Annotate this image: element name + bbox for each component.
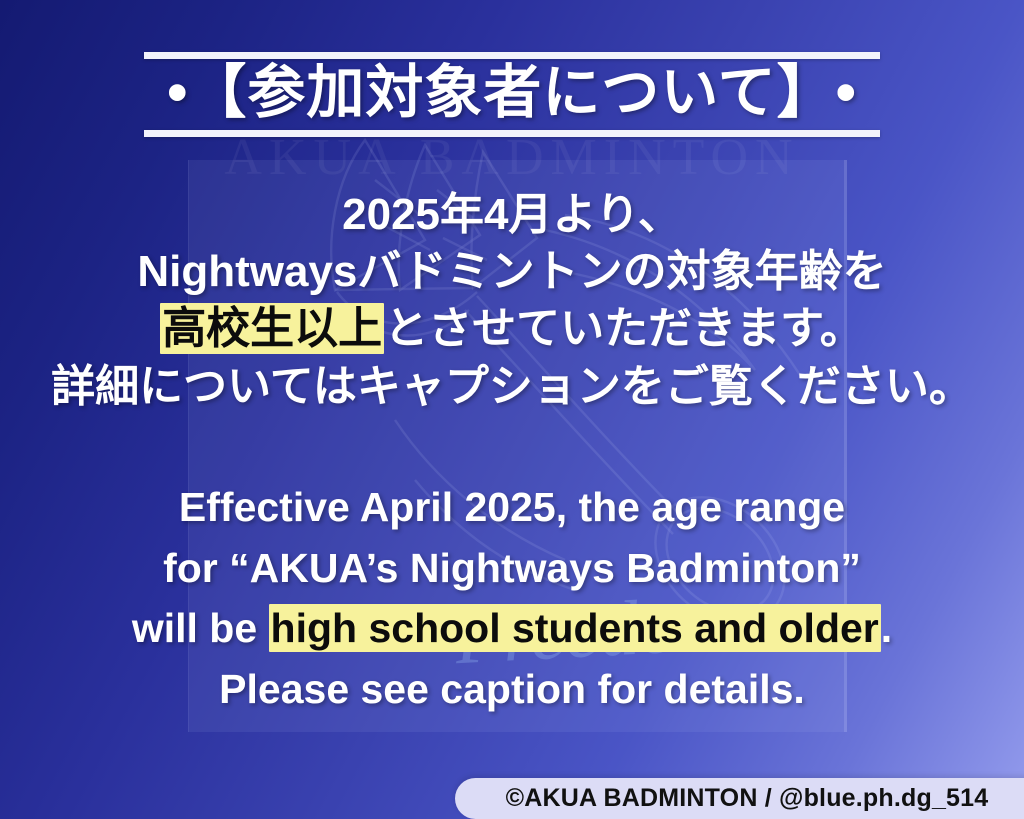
japanese-announcement: 2025年4月より、 Nightwaysバドミントンの対象年齢を 高校生以上とさ…: [0, 186, 1024, 415]
title-rule-top: [144, 52, 880, 59]
poster-canvas: AKUA BADMINTON Freedom •【参加対象者について】• 202…: [0, 0, 1024, 819]
japanese-highlight: 高校生以上: [160, 303, 384, 354]
japanese-line-1: 2025年4月より、: [0, 186, 1024, 243]
japanese-line-3-post: とさせていただきます。: [384, 304, 864, 353]
credit-text: ©AKUA BADMINTON / @blue.ph.dg_514: [470, 778, 1024, 819]
english-line-1: Effective April 2025, the age range: [0, 477, 1024, 538]
title-block: •【参加対象者について】•: [0, 52, 1024, 137]
japanese-line-4: 詳細についてはキャプションをご覧ください。: [0, 358, 1024, 415]
page-title: •【参加対象者について】•: [0, 59, 1024, 130]
english-line-3-post: .: [881, 605, 892, 651]
english-highlight: high school students and older: [269, 604, 881, 652]
title-rule-bottom: [144, 130, 880, 137]
english-line-3: will be high school students and older.: [0, 598, 1024, 659]
japanese-line-2: Nightwaysバドミントンの対象年齢を: [0, 243, 1024, 300]
japanese-line-3: 高校生以上とさせていただきます。: [0, 300, 1024, 357]
english-line-4: Please see caption for details.: [0, 659, 1024, 720]
english-announcement: Effective April 2025, the age range for …: [0, 477, 1024, 720]
english-line-3-pre: will be: [132, 605, 269, 651]
english-line-2: for “AKUA’s Nightways Badminton”: [0, 538, 1024, 599]
